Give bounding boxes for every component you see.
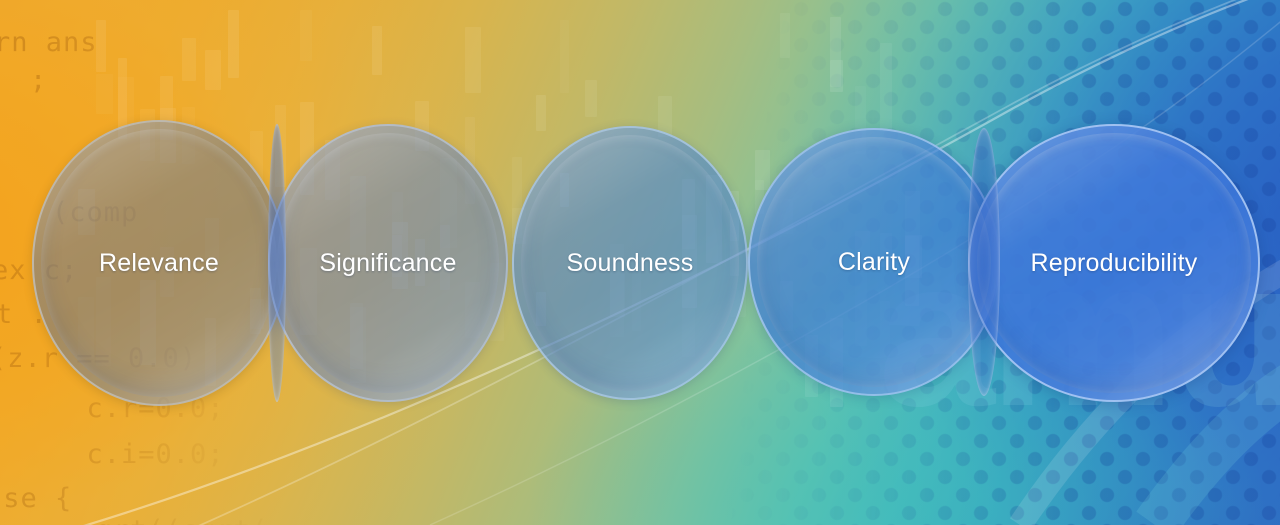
circle-relevance[interactable]: Relevance — [32, 120, 286, 406]
circle-label-significance: Significance — [319, 249, 456, 278]
circle-label-relevance: Relevance — [99, 249, 219, 278]
circle-reproducibility[interactable]: Reproducibility — [968, 124, 1260, 402]
circle-significance[interactable]: Significance — [268, 124, 508, 402]
diagram-canvas: rn ans;(compex c;t .(z.r == 0.0) c.r=0.0… — [0, 0, 1280, 525]
circle-label-reproducibility: Reproducibility — [1031, 249, 1198, 278]
circle-soundness[interactable]: Soundness — [512, 126, 748, 400]
circle-label-clarity: Clarity — [838, 248, 910, 277]
circle-clarity[interactable]: Clarity — [748, 128, 1000, 396]
circle-label-soundness: Soundness — [567, 249, 694, 278]
